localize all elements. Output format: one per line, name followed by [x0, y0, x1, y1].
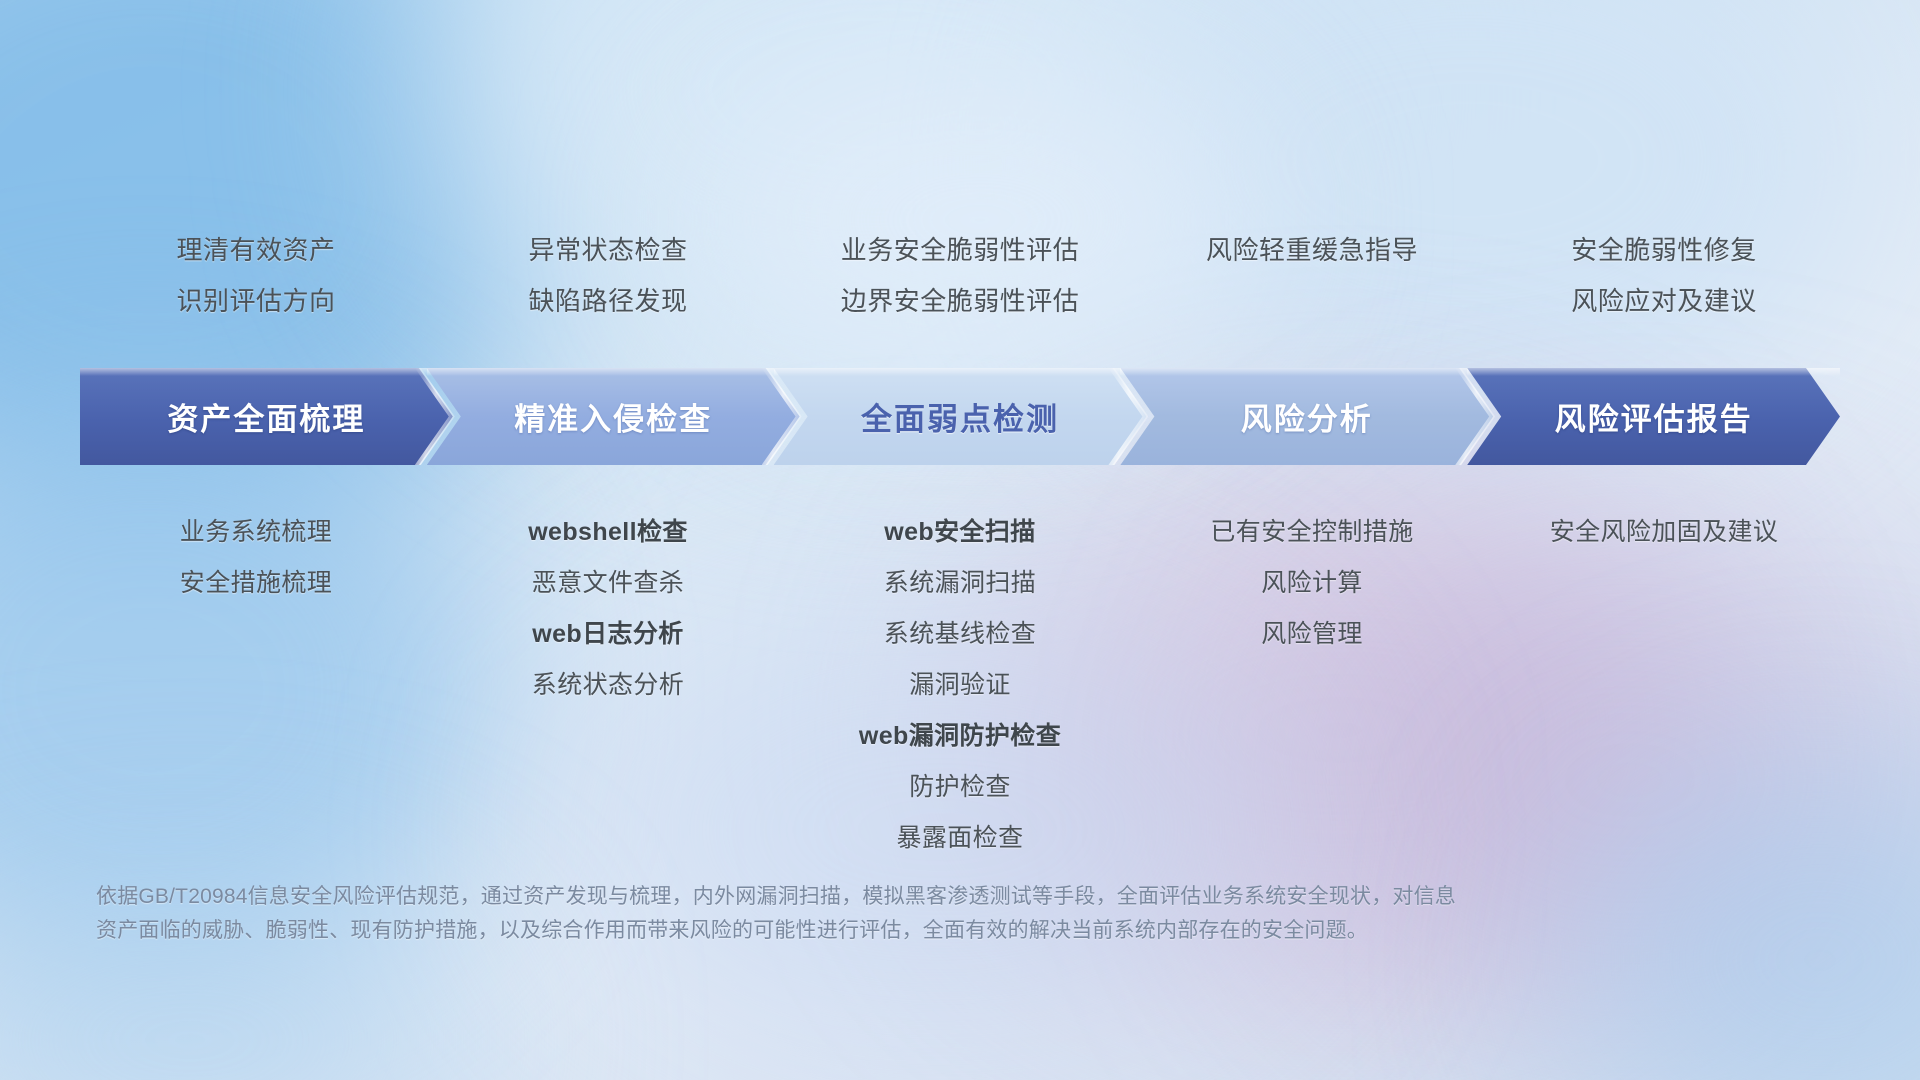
- detail-list-intrusion-check: webshell检查 恶意文件查杀 web日志分析 系统状态分析: [432, 490, 784, 701]
- list-item: web漏洞防护检查: [859, 716, 1061, 752]
- top-labels-row: 理清有效资产 识别评估方向 异常状态检查 缺陷路径发现 业务安全脆弱性评估 边界…: [80, 230, 1840, 318]
- list-item: 系统状态分析: [532, 665, 684, 701]
- detail-lists-row: 业务系统梳理 安全措施梳理 webshell检查 恶意文件查杀 web日志分析 …: [80, 490, 1840, 854]
- footer-description: 依据GB/T20984信息安全风险评估规范，通过资产发现与梳理，内外网漏洞扫描，…: [96, 880, 1656, 948]
- list-item: 防护检查: [909, 767, 1011, 803]
- chevron-stage-assessment-report[interactable]: 风险评估报告: [1467, 368, 1840, 465]
- top-label-line: 风险轻重缓急指导: [1206, 230, 1418, 267]
- top-labels-assessment-report: 安全脆弱性修复 风险应对及建议: [1488, 230, 1840, 318]
- list-item: 暴露面检查: [896, 818, 1023, 854]
- list-item: 系统漏洞扫描: [884, 563, 1036, 599]
- list-item: 业务系统梳理: [180, 512, 332, 548]
- chevron-label: 全面弱点检测: [861, 394, 1059, 439]
- top-label-line: 理清有效资产: [176, 230, 335, 267]
- list-item: 安全措施梳理: [180, 563, 332, 599]
- chevron-label: 风险分析: [1241, 394, 1373, 439]
- list-item: 安全风险加固及建议: [1550, 512, 1779, 548]
- top-label-line: 识别评估方向: [176, 281, 335, 318]
- chevron-stage-risk-analysis[interactable]: 风险分析: [1120, 368, 1493, 465]
- list-item: 已有安全控制措施: [1210, 512, 1413, 548]
- top-labels-risk-analysis: 风险轻重缓急指导: [1136, 230, 1488, 318]
- list-item: 系统基线检查: [884, 614, 1036, 650]
- chevron-stage-intrusion-check[interactable]: 精准入侵检查: [427, 368, 800, 465]
- chevron-stage-asset-inventory[interactable]: 资产全面梳理: [80, 368, 453, 465]
- list-item: 风险计算: [1261, 563, 1363, 599]
- list-item: web日志分析: [532, 614, 683, 650]
- chevron-label: 资产全面梳理: [167, 394, 365, 439]
- slide-canvas: 理清有效资产 识别评估方向 异常状态检查 缺陷路径发现 业务安全脆弱性评估 边界…: [0, 0, 1920, 1080]
- slide-content: 理清有效资产 识别评估方向 异常状态检查 缺陷路径发现 业务安全脆弱性评估 边界…: [0, 0, 1920, 1080]
- detail-list-risk-analysis: 已有安全控制措施 风险计算 风险管理: [1136, 490, 1488, 650]
- top-labels-asset-inventory: 理清有效资产 识别评估方向: [80, 230, 432, 318]
- detail-list-asset-inventory: 业务系统梳理 安全措施梳理: [80, 490, 432, 599]
- top-label-line: 风险应对及建议: [1571, 281, 1757, 318]
- top-label-line: 安全脆弱性修复: [1571, 230, 1757, 267]
- top-label-line: 缺陷路径发现: [528, 281, 687, 318]
- detail-list-weakness-detection: web安全扫描 系统漏洞扫描 系统基线检查 漏洞验证 web漏洞防护检查 防护检…: [784, 490, 1136, 854]
- process-chevron-bar: 资产全面梳理 精准入侵检查 全面弱点检测 风险分析: [80, 368, 1840, 465]
- list-item: 风险管理: [1261, 614, 1363, 650]
- footer-line: 依据GB/T20984信息安全风险评估规范，通过资产发现与梳理，内外网漏洞扫描，…: [96, 880, 1656, 914]
- list-item: webshell检查: [528, 512, 688, 548]
- chevron-label: 精准入侵检查: [514, 394, 712, 439]
- chevron-label: 风险评估报告: [1555, 394, 1753, 439]
- list-item: web安全扫描: [884, 512, 1035, 548]
- footer-line: 资产面临的威胁、脆弱性、现有防护措施，以及综合作用而带来风险的可能性进行评估，全…: [96, 914, 1656, 948]
- list-item: 恶意文件查杀: [532, 563, 684, 599]
- top-label-line: 异常状态检查: [528, 230, 687, 267]
- detail-list-assessment-report: 安全风险加固及建议: [1488, 490, 1840, 548]
- top-labels-intrusion-check: 异常状态检查 缺陷路径发现: [432, 230, 784, 318]
- list-item: 漏洞验证: [909, 665, 1011, 701]
- chevron-stage-weakness-detection[interactable]: 全面弱点检测: [774, 368, 1147, 465]
- top-label-line: 边界安全脆弱性评估: [841, 281, 1080, 318]
- top-labels-weakness-detection: 业务安全脆弱性评估 边界安全脆弱性评估: [784, 230, 1136, 318]
- top-label-line: 业务安全脆弱性评估: [841, 230, 1080, 267]
